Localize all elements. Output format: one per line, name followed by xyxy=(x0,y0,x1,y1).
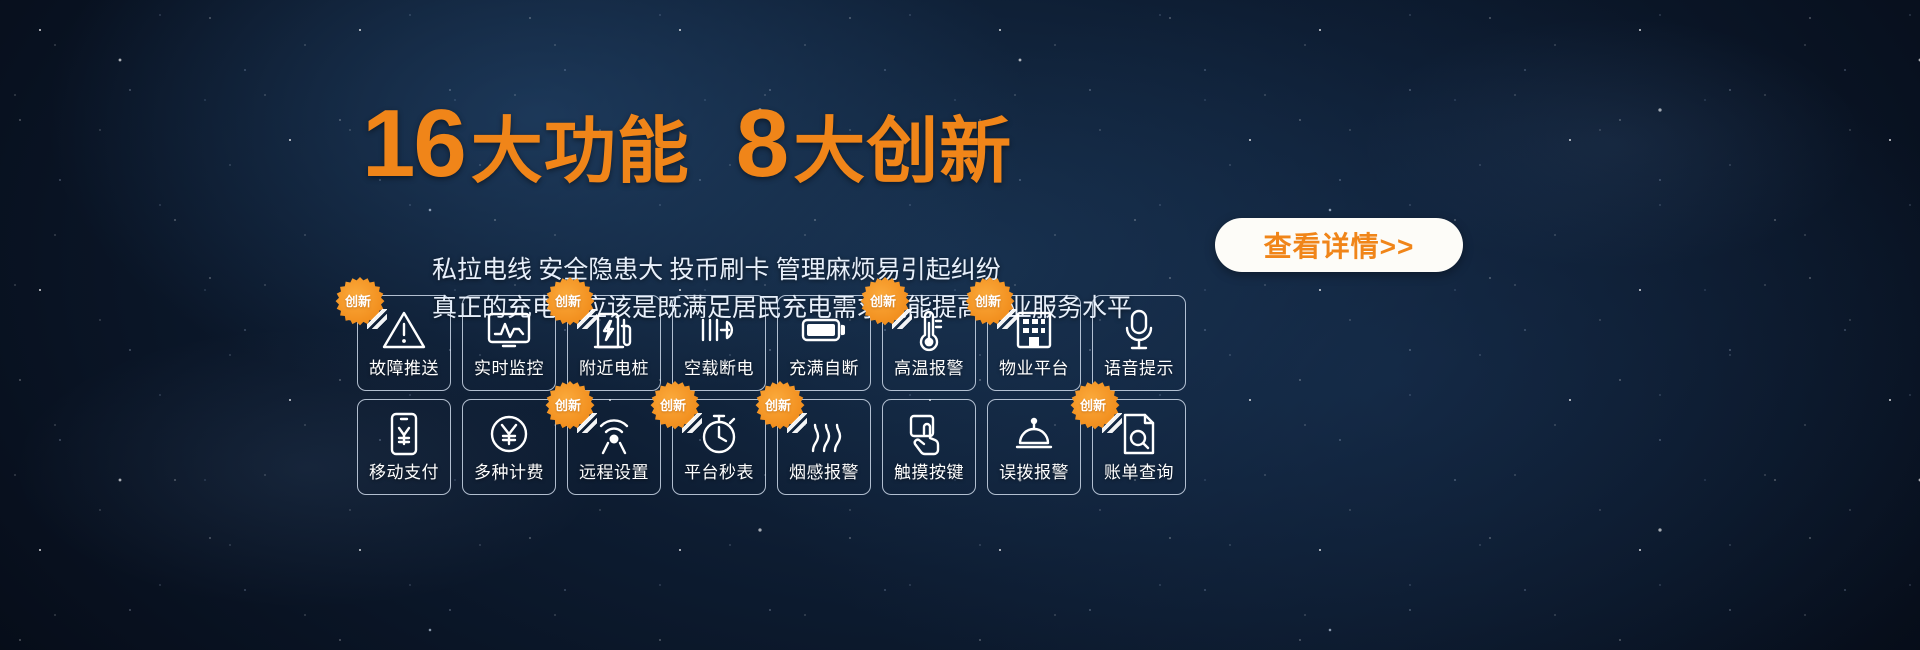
badge-ribbon xyxy=(367,309,387,329)
feature-tile[interactable]: 多种计费 xyxy=(462,399,556,495)
innovation-badge-label: 创新 xyxy=(870,291,896,310)
view-details-label: 查看详情>> xyxy=(1264,225,1415,265)
feature-tile[interactable]: 创新高温报警 xyxy=(882,295,976,391)
feature-tile[interactable]: 创新烟感报警 xyxy=(777,399,871,495)
feature-tile[interactable]: 创新平台秒表 xyxy=(672,399,766,495)
headline-text-innovations: 大创新 xyxy=(793,116,1012,188)
feature-tile[interactable]: 创新故障推送 xyxy=(357,295,451,391)
charging-pile-icon xyxy=(592,302,636,358)
innovation-badge: 创新 xyxy=(964,277,1016,329)
innovation-badge: 创新 xyxy=(754,381,806,433)
feature-tile-label: 故障推送 xyxy=(369,360,439,378)
subtitle-line-1: 私拉电线 安全隐患大 投币刷卡 管理麻烦易引起纠纷 xyxy=(432,252,1132,290)
feature-tile[interactable]: 语音提示 xyxy=(1092,295,1186,391)
feature-tile-label: 空载断电 xyxy=(684,360,754,378)
banner-stage: 16 大功能 8 大创新 查看详情>> 私拉电线 安全隐患大 投币刷卡 管理麻烦… xyxy=(0,0,1920,650)
monitor-waveform-icon xyxy=(486,302,532,358)
headline-number-functions: 16 xyxy=(362,96,465,192)
feature-tile[interactable]: 创新物业平台 xyxy=(987,295,1081,391)
badge-ribbon xyxy=(577,309,597,329)
building-icon xyxy=(1013,302,1055,358)
innovation-badge: 创新 xyxy=(649,381,701,433)
innovation-badge: 创新 xyxy=(1069,381,1121,433)
bill-search-icon xyxy=(1119,406,1159,462)
headline-text-functions: 大功能 xyxy=(471,116,690,188)
feature-tile-label: 充满自断 xyxy=(789,360,859,378)
feature-tile-label: 实时监控 xyxy=(474,360,544,378)
warning-triangle-icon xyxy=(381,302,427,358)
feature-tile-label: 附近电桩 xyxy=(579,360,649,378)
alarm-bell-icon xyxy=(1012,406,1056,462)
feature-tile[interactable]: 误拨报警 xyxy=(987,399,1081,495)
battery-full-icon xyxy=(800,302,848,358)
feature-tile[interactable]: 移动支付 xyxy=(357,399,451,495)
badge-ribbon xyxy=(1102,413,1122,433)
plug-cutoff-icon xyxy=(696,302,742,358)
badge-ribbon xyxy=(997,309,1017,329)
microphone-icon xyxy=(1121,302,1157,358)
stopwatch-icon xyxy=(697,406,741,462)
feature-tile[interactable]: 充满自断 xyxy=(777,295,871,391)
yuan-coin-icon xyxy=(487,406,531,462)
innovation-badge: 创新 xyxy=(859,277,911,329)
view-details-button[interactable]: 查看详情>> xyxy=(1215,218,1463,272)
feature-tile[interactable]: 创新账单查询 xyxy=(1092,399,1186,495)
feature-tile-label: 烟感报警 xyxy=(789,464,859,482)
innovation-badge-label: 创新 xyxy=(975,291,1001,310)
feature-tile-label: 多种计费 xyxy=(474,464,544,482)
feature-tile-label: 语音提示 xyxy=(1104,360,1174,378)
touch-hand-icon xyxy=(906,406,952,462)
badge-ribbon xyxy=(787,413,807,433)
innovation-badge: 创新 xyxy=(544,277,596,329)
innovation-badge-label: 创新 xyxy=(555,291,581,310)
wireless-signal-icon xyxy=(590,406,638,462)
feature-tile[interactable]: 创新附近电桩 xyxy=(567,295,661,391)
feature-tile-label: 远程设置 xyxy=(579,464,649,482)
feature-tile[interactable]: 触摸按键 xyxy=(882,399,976,495)
innovation-badge: 创新 xyxy=(334,277,386,329)
badge-ribbon xyxy=(892,309,912,329)
mobile-payment-icon xyxy=(387,406,421,462)
headline-number-innovations: 8 xyxy=(736,96,787,192)
innovation-badge: 创新 xyxy=(544,381,596,433)
feature-tile-label: 高温报警 xyxy=(894,360,964,378)
innovation-badge-label: 创新 xyxy=(555,395,581,414)
smoke-detector-icon xyxy=(801,406,847,462)
feature-tile-label: 移动支付 xyxy=(369,464,439,482)
feature-tile-label: 物业平台 xyxy=(999,360,1069,378)
thermometer-icon xyxy=(910,302,948,358)
headline: 16 大功能 8 大创新 xyxy=(362,96,1012,192)
feature-tile[interactable]: 实时监控 xyxy=(462,295,556,391)
badge-ribbon xyxy=(577,413,597,433)
feature-tile-label: 误拨报警 xyxy=(999,464,1069,482)
feature-tile-label: 平台秒表 xyxy=(684,464,754,482)
feature-tile-label: 账单查询 xyxy=(1104,464,1174,482)
feature-tile[interactable]: 创新远程设置 xyxy=(567,399,661,495)
innovation-badge-label: 创新 xyxy=(345,291,371,310)
feature-tile-label: 触摸按键 xyxy=(894,464,964,482)
badge-ribbon xyxy=(682,413,702,433)
innovation-badge-label: 创新 xyxy=(1080,395,1106,414)
feature-tile[interactable]: 空载断电 xyxy=(672,295,766,391)
innovation-badge-label: 创新 xyxy=(765,395,791,414)
feature-grid: 创新故障推送实时监控创新附近电桩空载断电充满自断创新高温报警创新物业平台语音提示… xyxy=(357,295,1186,495)
innovation-badge-label: 创新 xyxy=(660,395,686,414)
